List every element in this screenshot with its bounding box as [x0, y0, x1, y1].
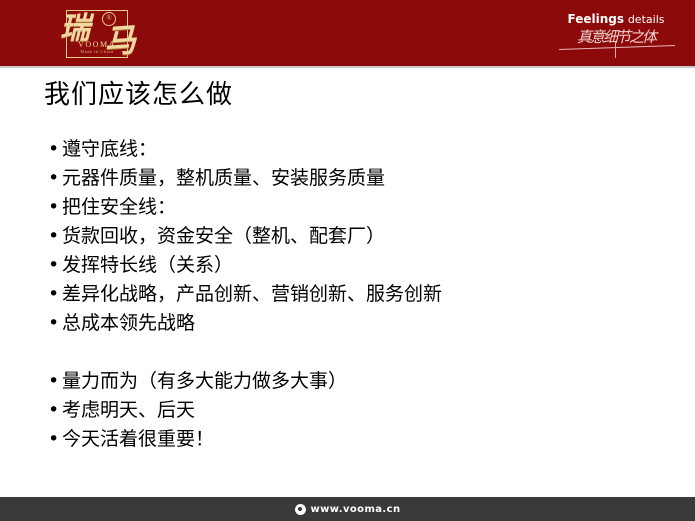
- list-item-label: 总成本领先战略: [62, 309, 195, 338]
- bullet-dot-icon: •: [48, 135, 62, 164]
- list-item: •今天活着很重要！: [48, 425, 668, 454]
- list-item: •元器件质量，整机质量、安装服务质量: [48, 164, 668, 193]
- list-item-label: 发挥特长线（关系）: [62, 251, 233, 280]
- tagline-light-word: details: [628, 13, 665, 26]
- list-item: •货款回收，资金安全（整机、配套厂）: [48, 222, 668, 251]
- list-item: •发挥特长线（关系）: [48, 251, 668, 280]
- tagline-chinese-script: 真意细节之体: [551, 29, 681, 47]
- list-item: •量力而为（有多大能力做多大事）: [48, 367, 668, 396]
- header-divider: [0, 66, 695, 68]
- list-item-label: 量力而为（有多大能力做多大事）: [62, 367, 347, 396]
- slide: ® 瑞 马 VOOMA Made in China Feelings detai…: [0, 0, 695, 521]
- list-item: •考虑明天、后天: [48, 396, 668, 425]
- list-item-label: 差异化战略，产品创新、营销创新、服务创新: [62, 280, 442, 309]
- circle-icon: [295, 504, 306, 515]
- tagline-strong-word: Feelings: [568, 12, 625, 26]
- list-item: •差异化战略，产品创新、营销创新、服务创新: [48, 280, 668, 309]
- tagline-latin: Feelings details: [551, 12, 681, 27]
- list-item: •把住安全线：: [48, 193, 668, 222]
- bullet-dot-icon: •: [48, 164, 62, 193]
- bullet-dot-icon: •: [48, 193, 62, 222]
- brand-tagline: Feelings details 真意细节之体: [551, 12, 681, 47]
- list-item-label: 遵守底线：: [62, 135, 157, 164]
- list-item-label: 货款回收，资金安全（整机、配套厂）: [62, 222, 385, 251]
- tagline-tick-mark: [615, 42, 616, 58]
- footer-url: www.vooma.cn: [311, 504, 401, 515]
- list-spacer: [48, 338, 668, 367]
- bullet-dot-icon: •: [48, 251, 62, 280]
- bullet-dot-icon: •: [48, 396, 62, 425]
- list-item: •总成本领先战略: [48, 309, 668, 338]
- page-title: 我们应该怎么做: [44, 79, 233, 111]
- bullet-list: •遵守底线：•元器件质量，整机质量、安装服务质量•把住安全线：•货款回收，资金安…: [48, 135, 668, 454]
- slide-footer-bar: www.vooma.cn: [0, 497, 695, 521]
- logo-sub-text: Made in China: [70, 49, 124, 54]
- logo-latin-name: VOOMA: [70, 40, 124, 49]
- bullet-dot-icon: •: [48, 367, 62, 396]
- footer-content: www.vooma.cn: [295, 504, 401, 515]
- list-item: •遵守底线：: [48, 135, 668, 164]
- bullet-dot-icon: •: [48, 309, 62, 338]
- list-item-label: 今天活着很重要！: [62, 425, 214, 454]
- list-item-label: 考虑明天、后天: [62, 396, 195, 425]
- bullet-dot-icon: •: [48, 280, 62, 309]
- list-item-label: 元器件质量，整机质量、安装服务质量: [62, 164, 385, 193]
- bullet-dot-icon: •: [48, 425, 62, 454]
- bullet-dot-icon: •: [48, 222, 62, 251]
- list-item-label: 把住安全线：: [62, 193, 176, 222]
- vooma-logo: ® 瑞 马 VOOMA Made in China: [52, 4, 157, 64]
